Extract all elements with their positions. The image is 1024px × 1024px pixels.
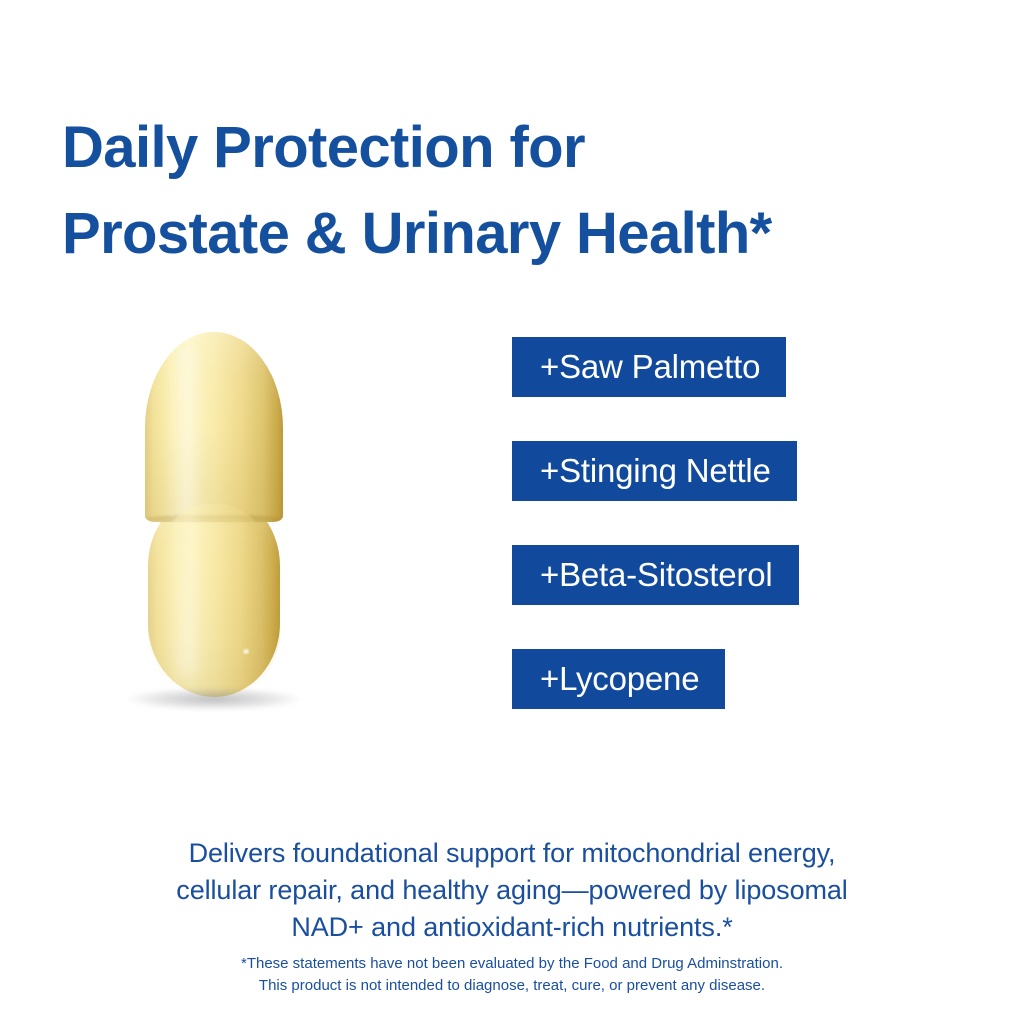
ingredient-badge-stinging-nettle[interactable]: +Stinging Nettle — [512, 441, 797, 501]
ingredient-badge-saw-palmetto[interactable]: +Saw Palmetto — [512, 337, 786, 397]
badge-row: +Saw Palmetto — [512, 337, 932, 397]
disclaimer-line-1: *These statements have not been evaluate… — [62, 953, 962, 975]
headline-line-1: Daily Protection for — [62, 105, 982, 191]
badge-row: +Lycopene — [512, 649, 932, 709]
badge-row: +Stinging Nettle — [512, 441, 932, 501]
disclaimer-line-2: This product is not intended to diagnose… — [62, 975, 962, 997]
page-title: Daily Protection for Prostate & Urinary … — [62, 105, 982, 277]
fda-disclaimer: *These statements have not been evaluate… — [62, 953, 962, 997]
description-line-1: Delivers foundational support for mitoch… — [62, 835, 962, 872]
description-line-2: cellular repair, and healthy aging—power… — [62, 872, 962, 909]
capsule-reflection-shape — [148, 504, 280, 702]
headline-line-2: Prostate & Urinary Health* — [62, 191, 982, 277]
promo-graphic: Daily Protection for Prostate & Urinary … — [0, 0, 1024, 1024]
ingredient-badge-beta-sitosterol[interactable]: +Beta-Sitosterol — [512, 545, 799, 605]
badge-row: +Beta-Sitosterol — [512, 545, 932, 605]
product-description: Delivers foundational support for mitoch… — [62, 835, 962, 946]
ingredient-badge-lycopene[interactable]: +Lycopene — [512, 649, 725, 709]
capsule-cap-half — [145, 332, 283, 522]
ingredient-badge-list: +Saw Palmetto +Stinging Nettle +Beta-Sit… — [512, 337, 932, 709]
product-image-capsule — [120, 320, 320, 820]
description-line-3: NAD+ and antioxidant-rich nutrients.* — [62, 909, 962, 946]
capsule-reflection — [145, 502, 283, 702]
